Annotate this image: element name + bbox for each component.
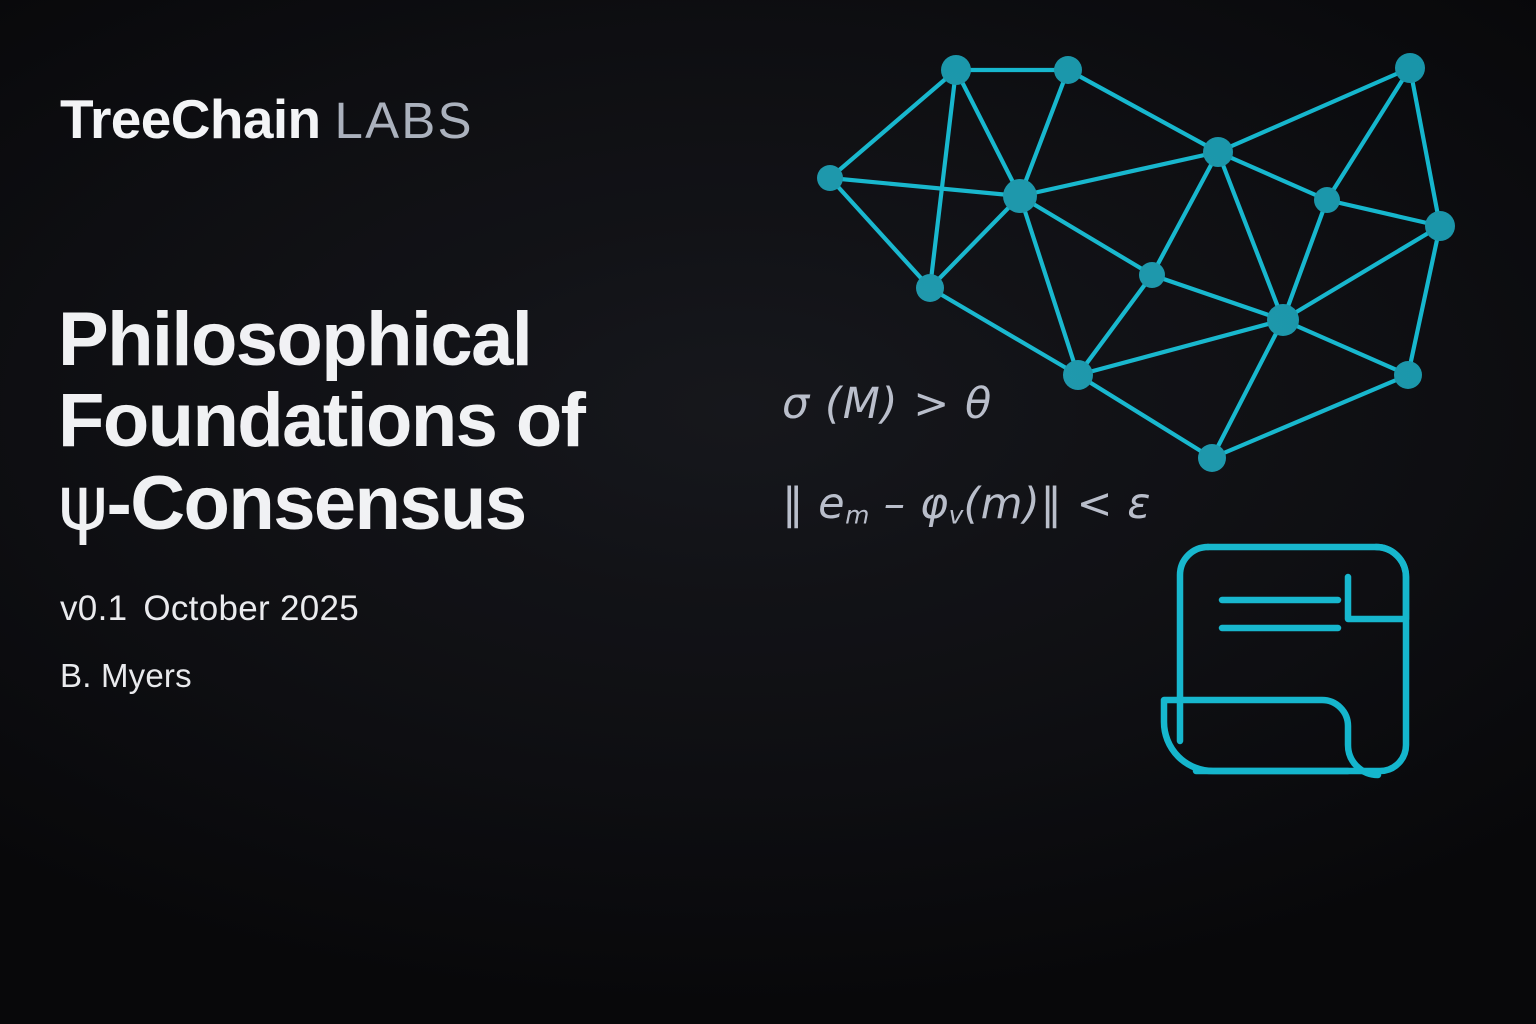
network-node	[1003, 179, 1037, 213]
network-edge	[1410, 68, 1440, 226]
network-edge	[830, 70, 956, 178]
scroll-document-icon	[1164, 547, 1406, 775]
network-node	[1063, 360, 1093, 390]
formula-run: σ (M) > θ	[782, 379, 992, 429]
network-node	[1394, 361, 1422, 389]
network-edge	[1152, 275, 1283, 320]
formula-run: ‖ e	[782, 479, 845, 529]
network-node	[941, 55, 971, 85]
network-edge	[1212, 320, 1283, 458]
network-node	[1267, 304, 1299, 336]
formula-sigma-threshold: σ (M) > θ	[782, 383, 992, 426]
formula-run: – φ	[869, 479, 948, 529]
formula-embedding-bound: ‖ em – φv(m)‖ < ε	[782, 483, 1151, 528]
network-node	[1395, 53, 1425, 83]
network-node	[1203, 137, 1233, 167]
network-edge	[1408, 226, 1440, 375]
decorative-graphic	[0, 0, 1536, 1024]
network-node	[1314, 187, 1340, 213]
network-node	[1425, 211, 1455, 241]
network-edge	[1212, 375, 1408, 458]
formula-subscript: v	[949, 500, 964, 529]
network-node	[1139, 262, 1165, 288]
formula-run: (m)‖ < ε	[963, 479, 1151, 529]
network-edge	[1020, 70, 1068, 196]
network-node	[817, 165, 843, 191]
network-node	[1198, 444, 1226, 472]
network-edge	[1283, 200, 1327, 320]
network-node	[1054, 56, 1082, 84]
network-edge	[1020, 152, 1218, 196]
network-edge	[930, 196, 1020, 288]
network-edge	[1327, 200, 1440, 226]
network-edge	[1152, 152, 1218, 275]
network-edge	[1283, 226, 1440, 320]
network-edge	[1068, 70, 1218, 152]
network-edge	[956, 70, 1020, 196]
network-edge	[830, 178, 930, 288]
network-edge	[1283, 320, 1408, 375]
network-edge	[930, 70, 956, 288]
title-slide: TreeChainLABS Philosophical Foundations …	[0, 0, 1536, 1024]
network-edge	[830, 178, 1020, 196]
network-edge	[1078, 375, 1212, 458]
network-edge	[1078, 320, 1283, 375]
network-node	[916, 274, 944, 302]
formula-subscript: m	[845, 500, 869, 529]
